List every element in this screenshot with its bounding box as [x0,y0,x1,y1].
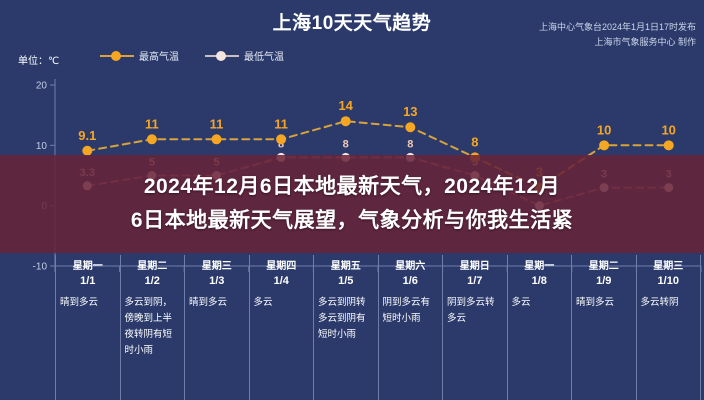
day-date-label: 1/6 [379,274,443,289]
high-temp-value-label: 10 [661,122,675,137]
y-axis-tick-label: -10 [33,262,48,273]
high-temp-value-label: 11 [274,116,288,131]
day-weekday-label: 星期六 [379,259,443,274]
day-column: 星期六1/6阴到多云有短时小雨 [378,255,443,400]
day-column: 星期一1/8多云 [507,255,572,400]
high-temp-value-label: 10 [597,122,611,137]
overlay-line-1: 2024年12月6日本地最新天气，2024年12月 [131,170,573,204]
day-weather-description: 多云 [250,289,314,311]
low-temp-value-label: 8 [407,138,413,150]
day-weekday-label: 星期二 [121,259,185,274]
day-column: 星期三1/10多云转阴 [636,255,702,400]
day-date-label: 1/5 [314,274,378,289]
day-weather-description: 晴到多云 [56,289,120,311]
day-column: 星期一1/1晴到多云 [55,255,120,400]
high-temp-point [341,116,351,126]
high-temp-value-label: 14 [338,98,353,113]
day-weekday-label: 星期一 [508,259,572,274]
high-temp-point [405,122,415,132]
high-temp-point [599,140,609,150]
day-weather-description: 多云 [508,289,572,311]
day-weather-description: 多云转阴 [637,289,701,311]
day-weekday-label: 星期日 [443,259,507,274]
day-weekday-label: 星期三 [185,259,249,274]
overlay-line-2: 6日本地最新天气展望，气象分析与你我生活紧 [131,204,573,238]
day-date-label: 1/10 [637,274,701,289]
day-weekday-label: 星期一 [56,259,120,274]
day-column: 星期三1/3晴到多云 [184,255,249,400]
day-column: 星期五1/5多云到阴转多云到阴有短时小雨 [313,255,378,400]
day-date-label: 1/2 [121,274,185,289]
day-weekday-label: 星期二 [572,259,636,274]
low-temp-value-label: 8 [343,138,349,150]
day-column: 星期二1/2多云到阴，傍晚到上半夜转阴有短时小雨 [120,255,185,400]
high-temp-point [276,134,286,144]
day-weather-description: 晴到多云 [572,289,636,311]
day-date-label: 1/8 [508,274,572,289]
high-temp-value-label: 9.1 [78,128,96,143]
day-weekday-label: 星期五 [314,259,378,274]
day-column: 星期四1/4多云 [249,255,314,400]
overlay-banner-text: 2024年12月6日本地最新天气，2024年12月 6日本地最新天气展望，气象分… [125,170,579,238]
y-axis-tick-label: 10 [36,141,48,152]
high-temp-value-label: 8 [471,134,478,149]
day-date-label: 1/9 [572,274,636,289]
day-date-label: 1/7 [443,274,507,289]
day-column: 星期日1/7阴到多云转多云 [442,255,507,400]
high-temp-point [212,134,222,144]
day-column: 星期二1/9晴到多云 [571,255,636,400]
day-weekday-label: 星期三 [637,259,701,274]
high-temp-value-label: 11 [210,116,224,131]
high-temp-point [147,134,157,144]
day-date-label: 1/1 [56,274,120,289]
day-date-label: 1/4 [250,274,314,289]
overlay-banner: 2024年12月6日本地最新天气，2024年12月 6日本地最新天气展望，气象分… [0,155,704,253]
high-temp-value-label: 13 [403,104,417,119]
day-columns: 星期一1/1晴到多云星期二1/2多云到阴，傍晚到上半夜转阴有短时小雨星期三1/3… [55,255,701,400]
day-weather-description: 多云到阴转多云到阴有短时小雨 [314,289,378,343]
day-weather-description: 阴到多云有短时小雨 [379,289,443,327]
day-weekday-label: 星期四 [250,259,314,274]
weather-trend-chart-screenshot: 上海10天天气趋势 上海中心气象台2024年1月1日17时发布 上海市气象服务中… [0,0,704,400]
day-weather-description: 晴到多云 [185,289,249,311]
day-weather-description: 多云到阴，傍晚到上半夜转阴有短时小雨 [121,289,185,359]
high-temp-value-label: 11 [145,116,159,131]
high-temp-point [664,140,674,150]
day-weather-description: 阴到多云转多云 [443,289,507,327]
y-axis-tick-label: 20 [36,81,48,92]
day-date-label: 1/3 [185,274,249,289]
